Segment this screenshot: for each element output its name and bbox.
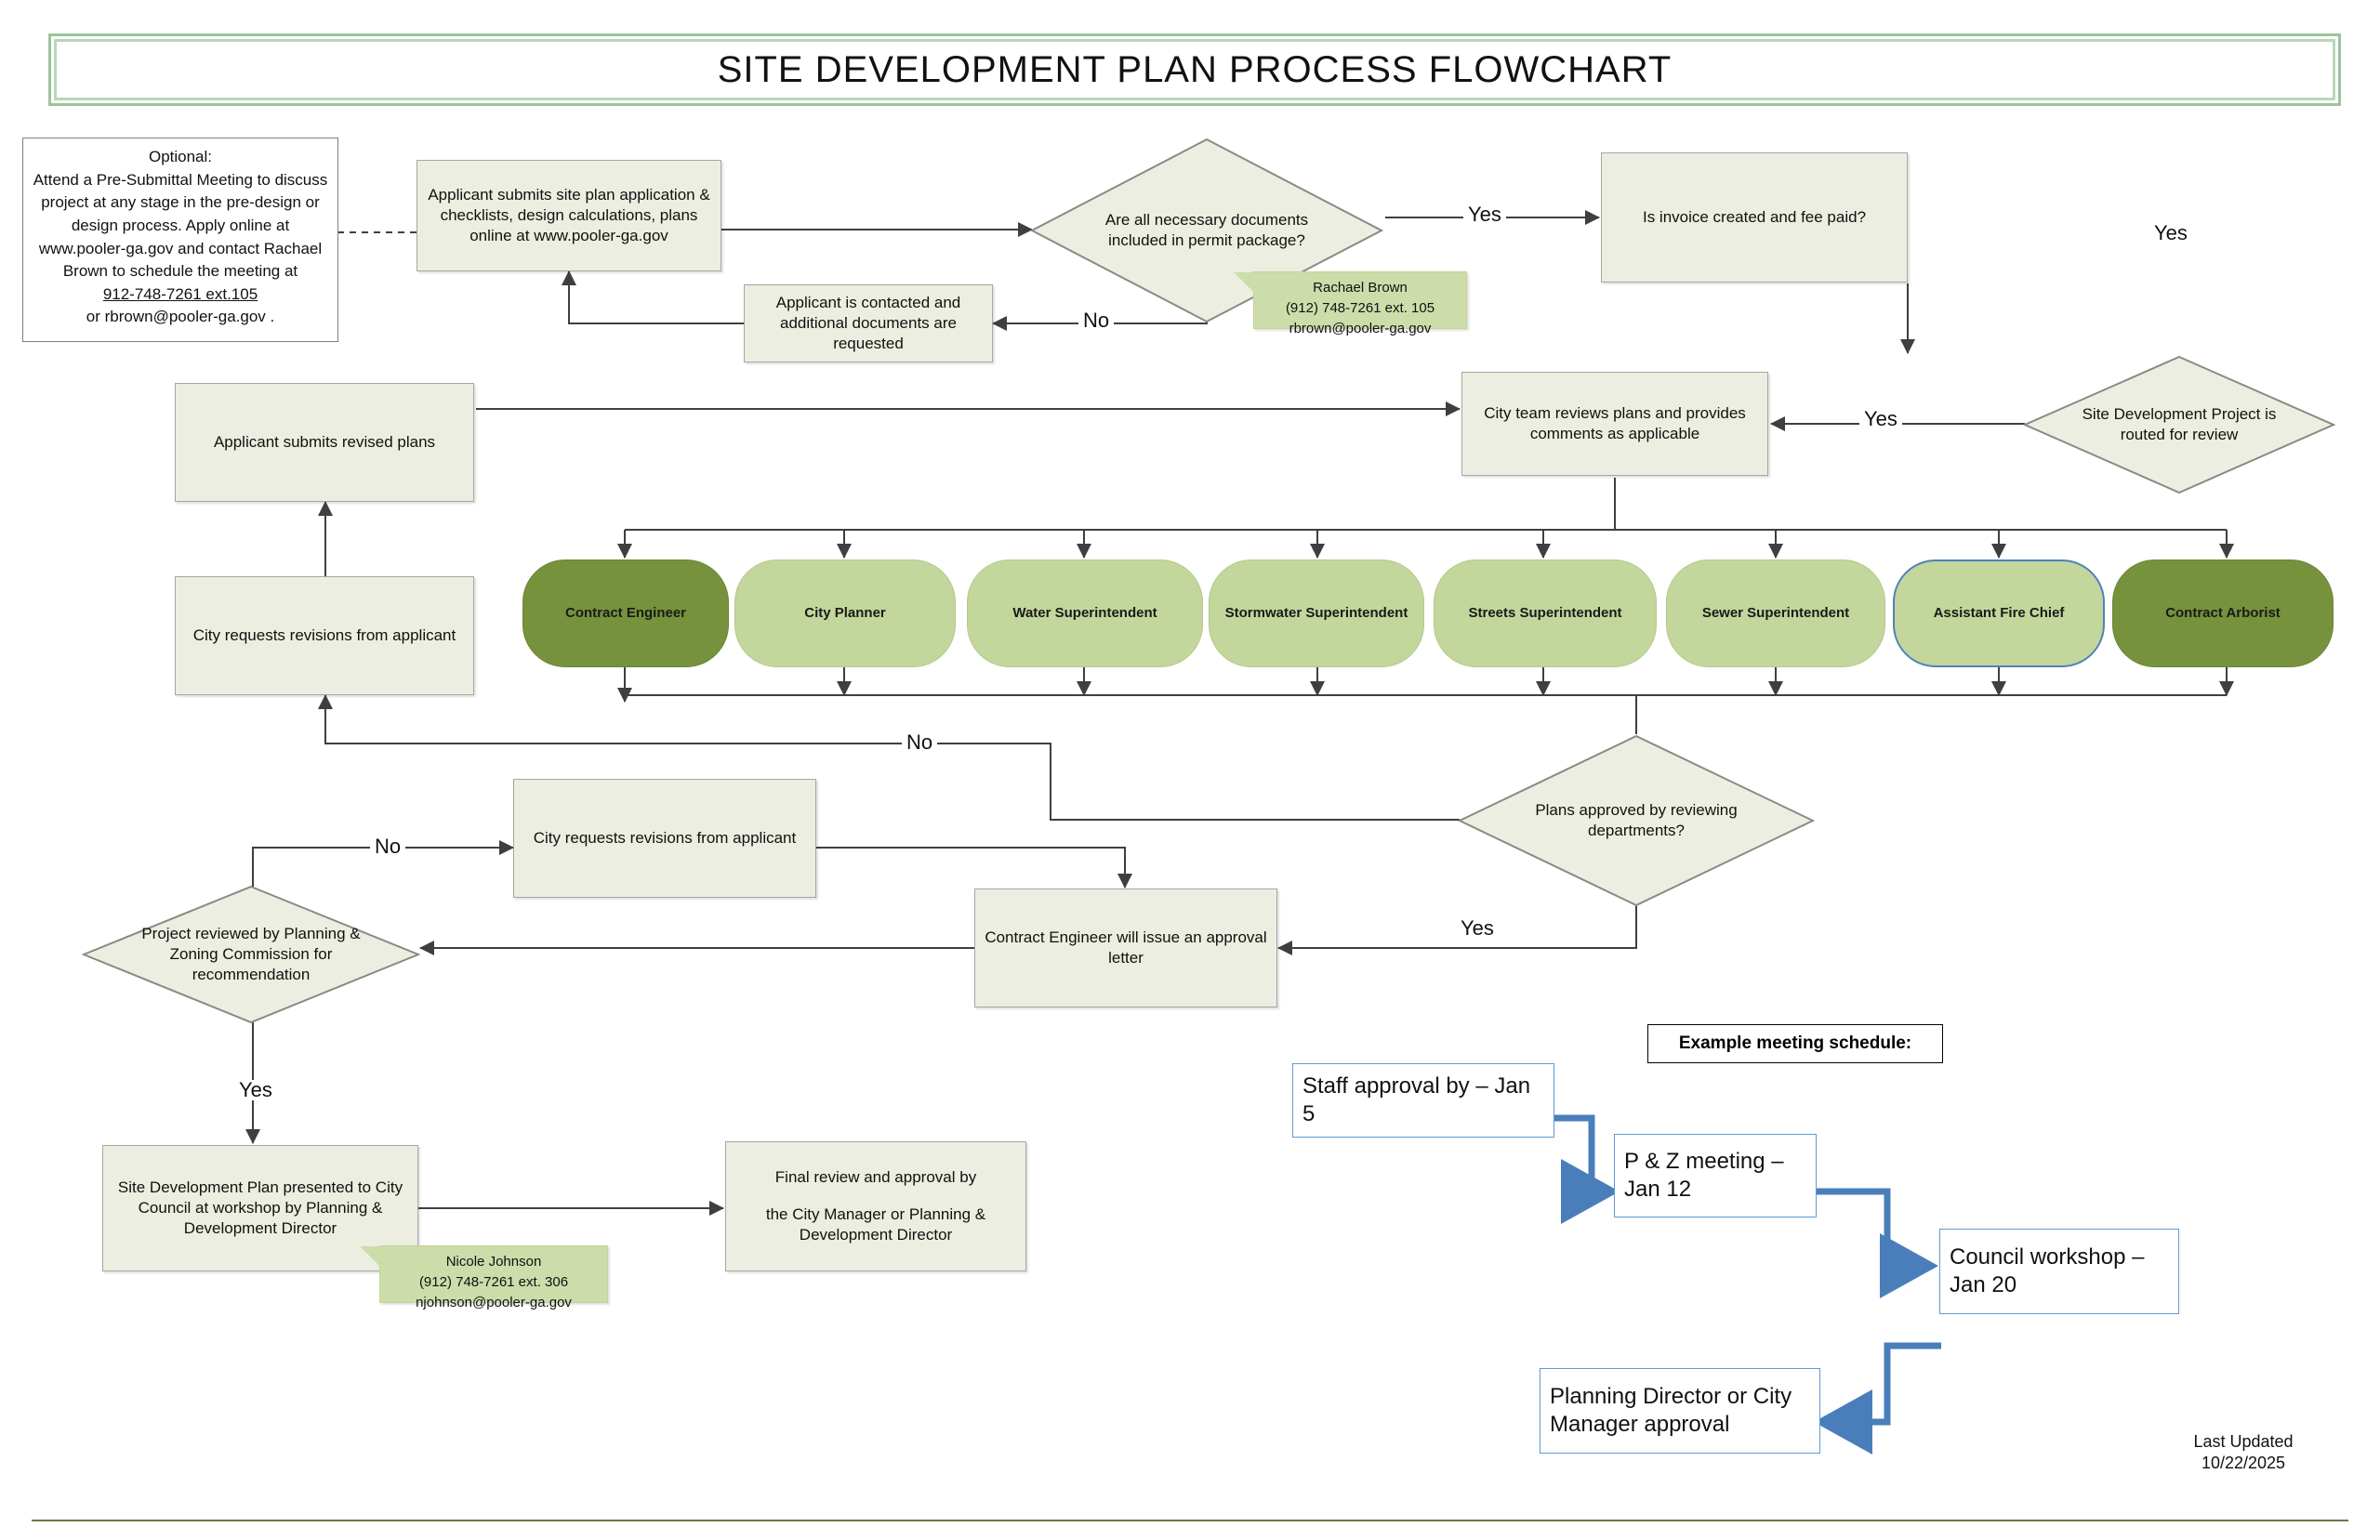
- schedule-item-0-label: Staff approval by – Jan 5: [1302, 1073, 1544, 1128]
- edge-label-yes-plans-approved: Yes: [1456, 918, 1499, 939]
- node-submit-application: Applicant submits site plan application …: [416, 160, 721, 271]
- pill-department-6-label: Assistant Fire Chief: [1934, 602, 2065, 625]
- edge-label-yes-invoice: Yes: [2149, 223, 2192, 244]
- node-city-requests-revisions-upper-label: City requests revisions from applicant: [193, 625, 456, 646]
- pill-department-2: Water Superintendent: [967, 559, 1203, 667]
- pill-department-1-label: City Planner: [804, 602, 886, 625]
- callout-nicole-johnson: Nicole Johnson (912) 748-7261 ext. 306 n…: [379, 1245, 608, 1303]
- node-presented-to-council-label: Site Development Plan presented to City …: [112, 1178, 408, 1238]
- pill-department-7: Contract Arborist: [2112, 559, 2334, 667]
- node-pz-recommendation-label: Project reviewed by Planning & Zoning Co…: [82, 885, 420, 1024]
- pill-department-3: Stormwater Superintendent: [1209, 559, 1424, 667]
- edge-label-no-pz: No: [370, 836, 405, 857]
- node-applicant-revised-plans-label: Applicant submits revised plans: [214, 432, 435, 453]
- node-applicant-contacted-label: Applicant is contacted and additional do…: [754, 293, 983, 353]
- callout-rachael-phone: (912) 748-7261 ext. 105: [1263, 298, 1457, 319]
- node-routed-for-review-label: Site Development Project is routed for r…: [2023, 355, 2335, 494]
- title-banner: SITE DEVELOPMENT PLAN PROCESS FLOWCHART: [48, 33, 2341, 106]
- pill-department-2-label: Water Superintendent: [1012, 602, 1157, 625]
- pill-department-1: City Planner: [734, 559, 956, 667]
- node-city-team-reviews-label: City team reviews plans and provides com…: [1472, 403, 1758, 444]
- edge-label-yes-documents: Yes: [1463, 204, 1506, 225]
- schedule-item-3-label: Planning Director or City Manager approv…: [1550, 1383, 1810, 1439]
- node-city-team-reviews: City team reviews plans and provides com…: [1461, 372, 1768, 476]
- page-title: SITE DEVELOPMENT PLAN PROCESS FLOWCHART: [718, 49, 1673, 91]
- schedule-item-0: Staff approval by – Jan 5: [1292, 1063, 1554, 1138]
- pill-department-4: Streets Superintendent: [1434, 559, 1657, 667]
- pill-department-0: Contract Engineer: [522, 559, 729, 667]
- node-invoice-paid: Is invoice created and fee paid?: [1601, 152, 1908, 283]
- node-plans-approved-decision-label: Plans approved by reviewing departments?: [1458, 734, 1815, 907]
- schedule-item-1-label: P & Z meeting – Jan 12: [1624, 1148, 1806, 1204]
- optional-pre-submittal-note: Optional: Attend a Pre-Submittal Meeting…: [22, 138, 338, 342]
- node-city-requests-revisions-lower-label: City requests revisions from applicant: [534, 828, 797, 849]
- pill-department-7-label: Contract Arborist: [2165, 602, 2281, 625]
- pill-department-5: Sewer Superintendent: [1666, 559, 1885, 667]
- last-updated-label: Last Updated: [2155, 1431, 2332, 1453]
- node-submit-application-label: Applicant submits site plan application …: [427, 185, 711, 245]
- pill-department-6: Assistant Fire Chief: [1893, 559, 2105, 667]
- schedule-item-1: P & Z meeting – Jan 12: [1614, 1134, 1817, 1218]
- schedule-item-2: Council workshop – Jan 20: [1939, 1229, 2179, 1314]
- node-final-review-label2: the City Manager or Planning & Developme…: [735, 1204, 1016, 1245]
- callout-rachael-email: rbrown@pooler-ga.gov: [1263, 319, 1457, 339]
- optional-email: or rbrown@pooler-ga.gov .: [31, 306, 330, 329]
- last-updated: Last Updated 10/22/2025: [2155, 1431, 2332, 1475]
- node-final-review: Final review and approval by the City Ma…: [725, 1141, 1026, 1271]
- callout-nicole-email: njohnson@pooler-ga.gov: [390, 1293, 598, 1313]
- pill-department-5-label: Sewer Superintendent: [1702, 602, 1849, 625]
- node-approval-letter: Contract Engineer will issue an approval…: [974, 888, 1277, 1007]
- node-final-review-label: Final review and approval by: [775, 1167, 976, 1188]
- edge-label-no-plans-approved: No: [902, 732, 937, 753]
- schedule-item-2-label: Council workshop – Jan 20: [1950, 1244, 2169, 1299]
- edge-label-yes-routed: Yes: [1859, 409, 1902, 429]
- callout-nicole-phone: (912) 748-7261 ext. 306: [390, 1272, 598, 1293]
- schedule-item-3: Planning Director or City Manager approv…: [1540, 1368, 1820, 1454]
- node-city-requests-revisions-lower: City requests revisions from applicant: [513, 779, 816, 898]
- node-approval-letter-label: Contract Engineer will issue an approval…: [985, 928, 1267, 968]
- node-applicant-contacted: Applicant is contacted and additional do…: [744, 284, 993, 362]
- optional-body: Attend a Pre-Submittal Meeting to discus…: [31, 169, 330, 283]
- node-plans-approved-decision: Plans approved by reviewing departments?: [1458, 734, 1815, 907]
- schedule-heading-label: Example meeting schedule:: [1679, 1033, 1911, 1054]
- pill-department-0-label: Contract Engineer: [565, 602, 686, 625]
- bottom-divider: [32, 1520, 2348, 1521]
- node-pz-recommendation: Project reviewed by Planning & Zoning Co…: [82, 885, 420, 1024]
- last-updated-date: 10/22/2025: [2155, 1453, 2332, 1474]
- pill-department-4-label: Streets Superintendent: [1468, 602, 1621, 625]
- callout-rachael-name: Rachael Brown: [1263, 278, 1457, 298]
- flowchart-canvas: SITE DEVELOPMENT PLAN PROCESS FLOWCHART …: [0, 0, 2380, 1540]
- schedule-heading: Example meeting schedule:: [1647, 1024, 1943, 1063]
- node-applicant-revised-plans: Applicant submits revised plans: [175, 383, 474, 502]
- node-city-requests-revisions-upper: City requests revisions from applicant: [175, 576, 474, 695]
- edge-label-yes-pz: Yes: [234, 1080, 277, 1100]
- optional-label: Optional:: [31, 146, 330, 169]
- optional-phone: 912-748-7261 ext.105: [31, 283, 330, 307]
- callout-tail-icon: [360, 1246, 382, 1269]
- node-routed-for-review: Site Development Project is routed for r…: [2023, 355, 2335, 494]
- callout-nicole-name: Nicole Johnson: [390, 1252, 598, 1272]
- edge-label-no-documents: No: [1078, 310, 1114, 331]
- callout-rachael-brown: Rachael Brown (912) 748-7261 ext. 105 rb…: [1253, 271, 1467, 329]
- pill-department-3-label: Stormwater Superintendent: [1225, 602, 1408, 625]
- callout-tail-icon: [1234, 272, 1256, 295]
- node-invoice-paid-label: Is invoice created and fee paid?: [1643, 207, 1866, 228]
